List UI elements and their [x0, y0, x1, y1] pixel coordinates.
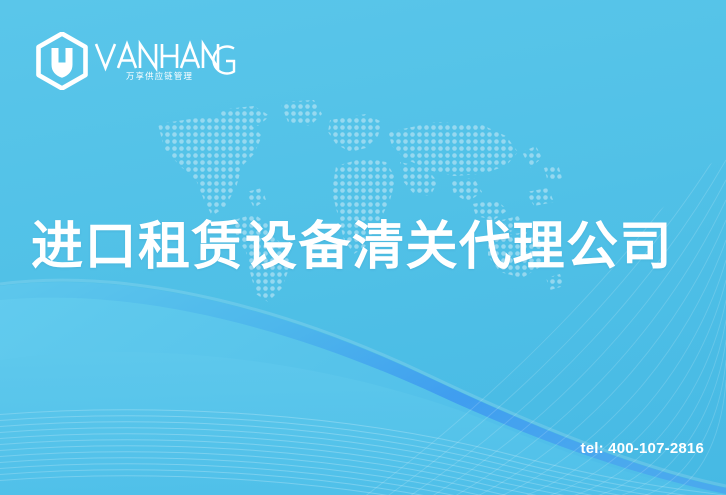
contact-phone[interactable]: tel: 400-107-2816: [581, 440, 704, 457]
vanhang-hexagon-icon: [36, 32, 88, 90]
logo-subtitle: 万享供应链管理: [126, 71, 193, 81]
page-title: 进口租赁设备清关代理公司: [31, 216, 711, 278]
vanhang-wordmark: 万享供应链管理: [94, 38, 239, 84]
promotional-banner: 万享供应链管理 进口租赁设备清关代理公司 tel: 400-107-2816: [0, 0, 726, 495]
brand-logo[interactable]: 万享供应链管理: [36, 32, 236, 92]
